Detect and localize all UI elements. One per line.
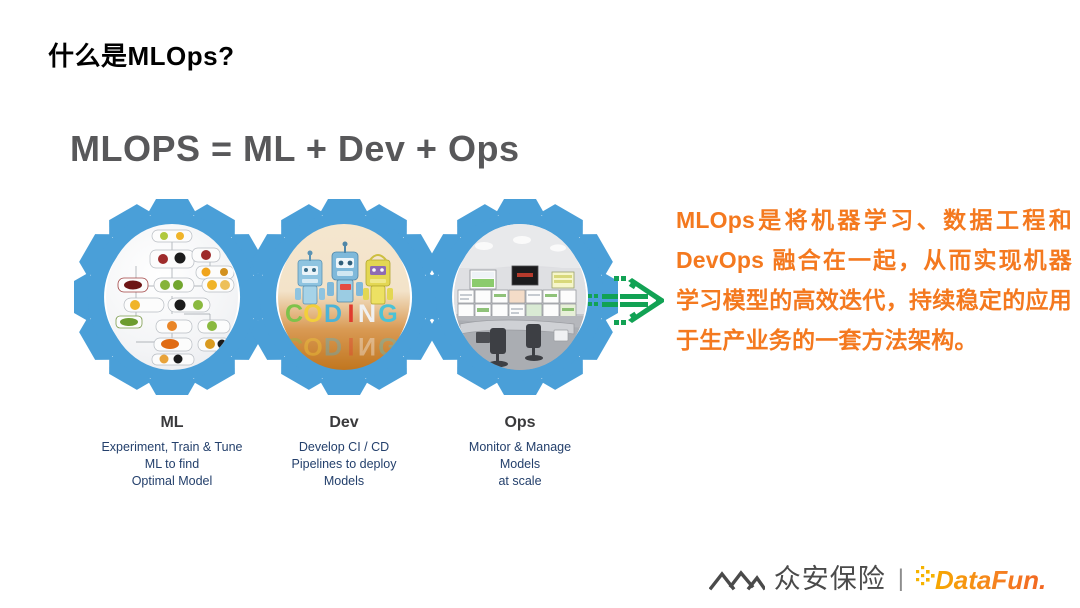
svg-text:I: I: [348, 300, 355, 328]
ops-control-room-image: [454, 224, 586, 370]
zhongan-label: 众安保险: [774, 566, 886, 593]
page-title: 什么是MLOps?: [48, 36, 235, 73]
zhongan-logo: 众安保险: [709, 564, 886, 594]
svg-text:D: D: [324, 332, 342, 360]
pillar-circle-row: C O D I N G C O D I N G: [32, 196, 672, 416]
pillar-circle-dev: C O D I N G C O D I N G: [244, 196, 444, 398]
summary-text: MLOps是将机器学习、数据工程和 DevOps 融合在一起，从而实现机器学习模…: [676, 200, 1072, 360]
caption-line: Models: [410, 456, 630, 473]
ml-flowchart-image: [106, 224, 238, 370]
datafun-logo: DataFun.: [916, 562, 1066, 596]
svg-text:N: N: [358, 300, 376, 328]
dotted-right-arrow-icon: [588, 268, 672, 332]
svg-text:O: O: [303, 300, 322, 328]
caption-title-ops: Ops: [410, 414, 630, 432]
svg-text:N: N: [358, 332, 376, 360]
zhongan-mountain-icon: [709, 564, 765, 594]
svg-text:I: I: [348, 332, 355, 360]
svg-text:D: D: [324, 300, 342, 328]
datafun-text: DataFun.: [935, 565, 1046, 595]
pillar-circle-ml: [72, 196, 272, 398]
diagram-heading: MLOPS = ML + Dev + Ops: [70, 128, 519, 170]
datafun-wordmark-icon: DataFun.: [916, 562, 1066, 596]
svg-text:C: C: [285, 300, 303, 328]
dev-coding-image: C O D I N G C O D I N G: [278, 224, 410, 370]
pillar-captions: ML Experiment, Train & Tune ML to find O…: [32, 414, 672, 514]
svg-text:O: O: [303, 332, 322, 360]
svg-text:G: G: [378, 300, 397, 328]
caption-ops: Ops Monitor & Manage Models at scale: [410, 414, 630, 490]
caption-line: at scale: [410, 473, 630, 490]
caption-line: Monitor & Manage: [410, 439, 630, 456]
footer-logos: 众安保险 | DataFun.: [709, 558, 1066, 600]
mlops-diagram: MLOPS = ML + Dev + Ops: [32, 118, 672, 514]
logo-divider: |: [896, 567, 906, 591]
